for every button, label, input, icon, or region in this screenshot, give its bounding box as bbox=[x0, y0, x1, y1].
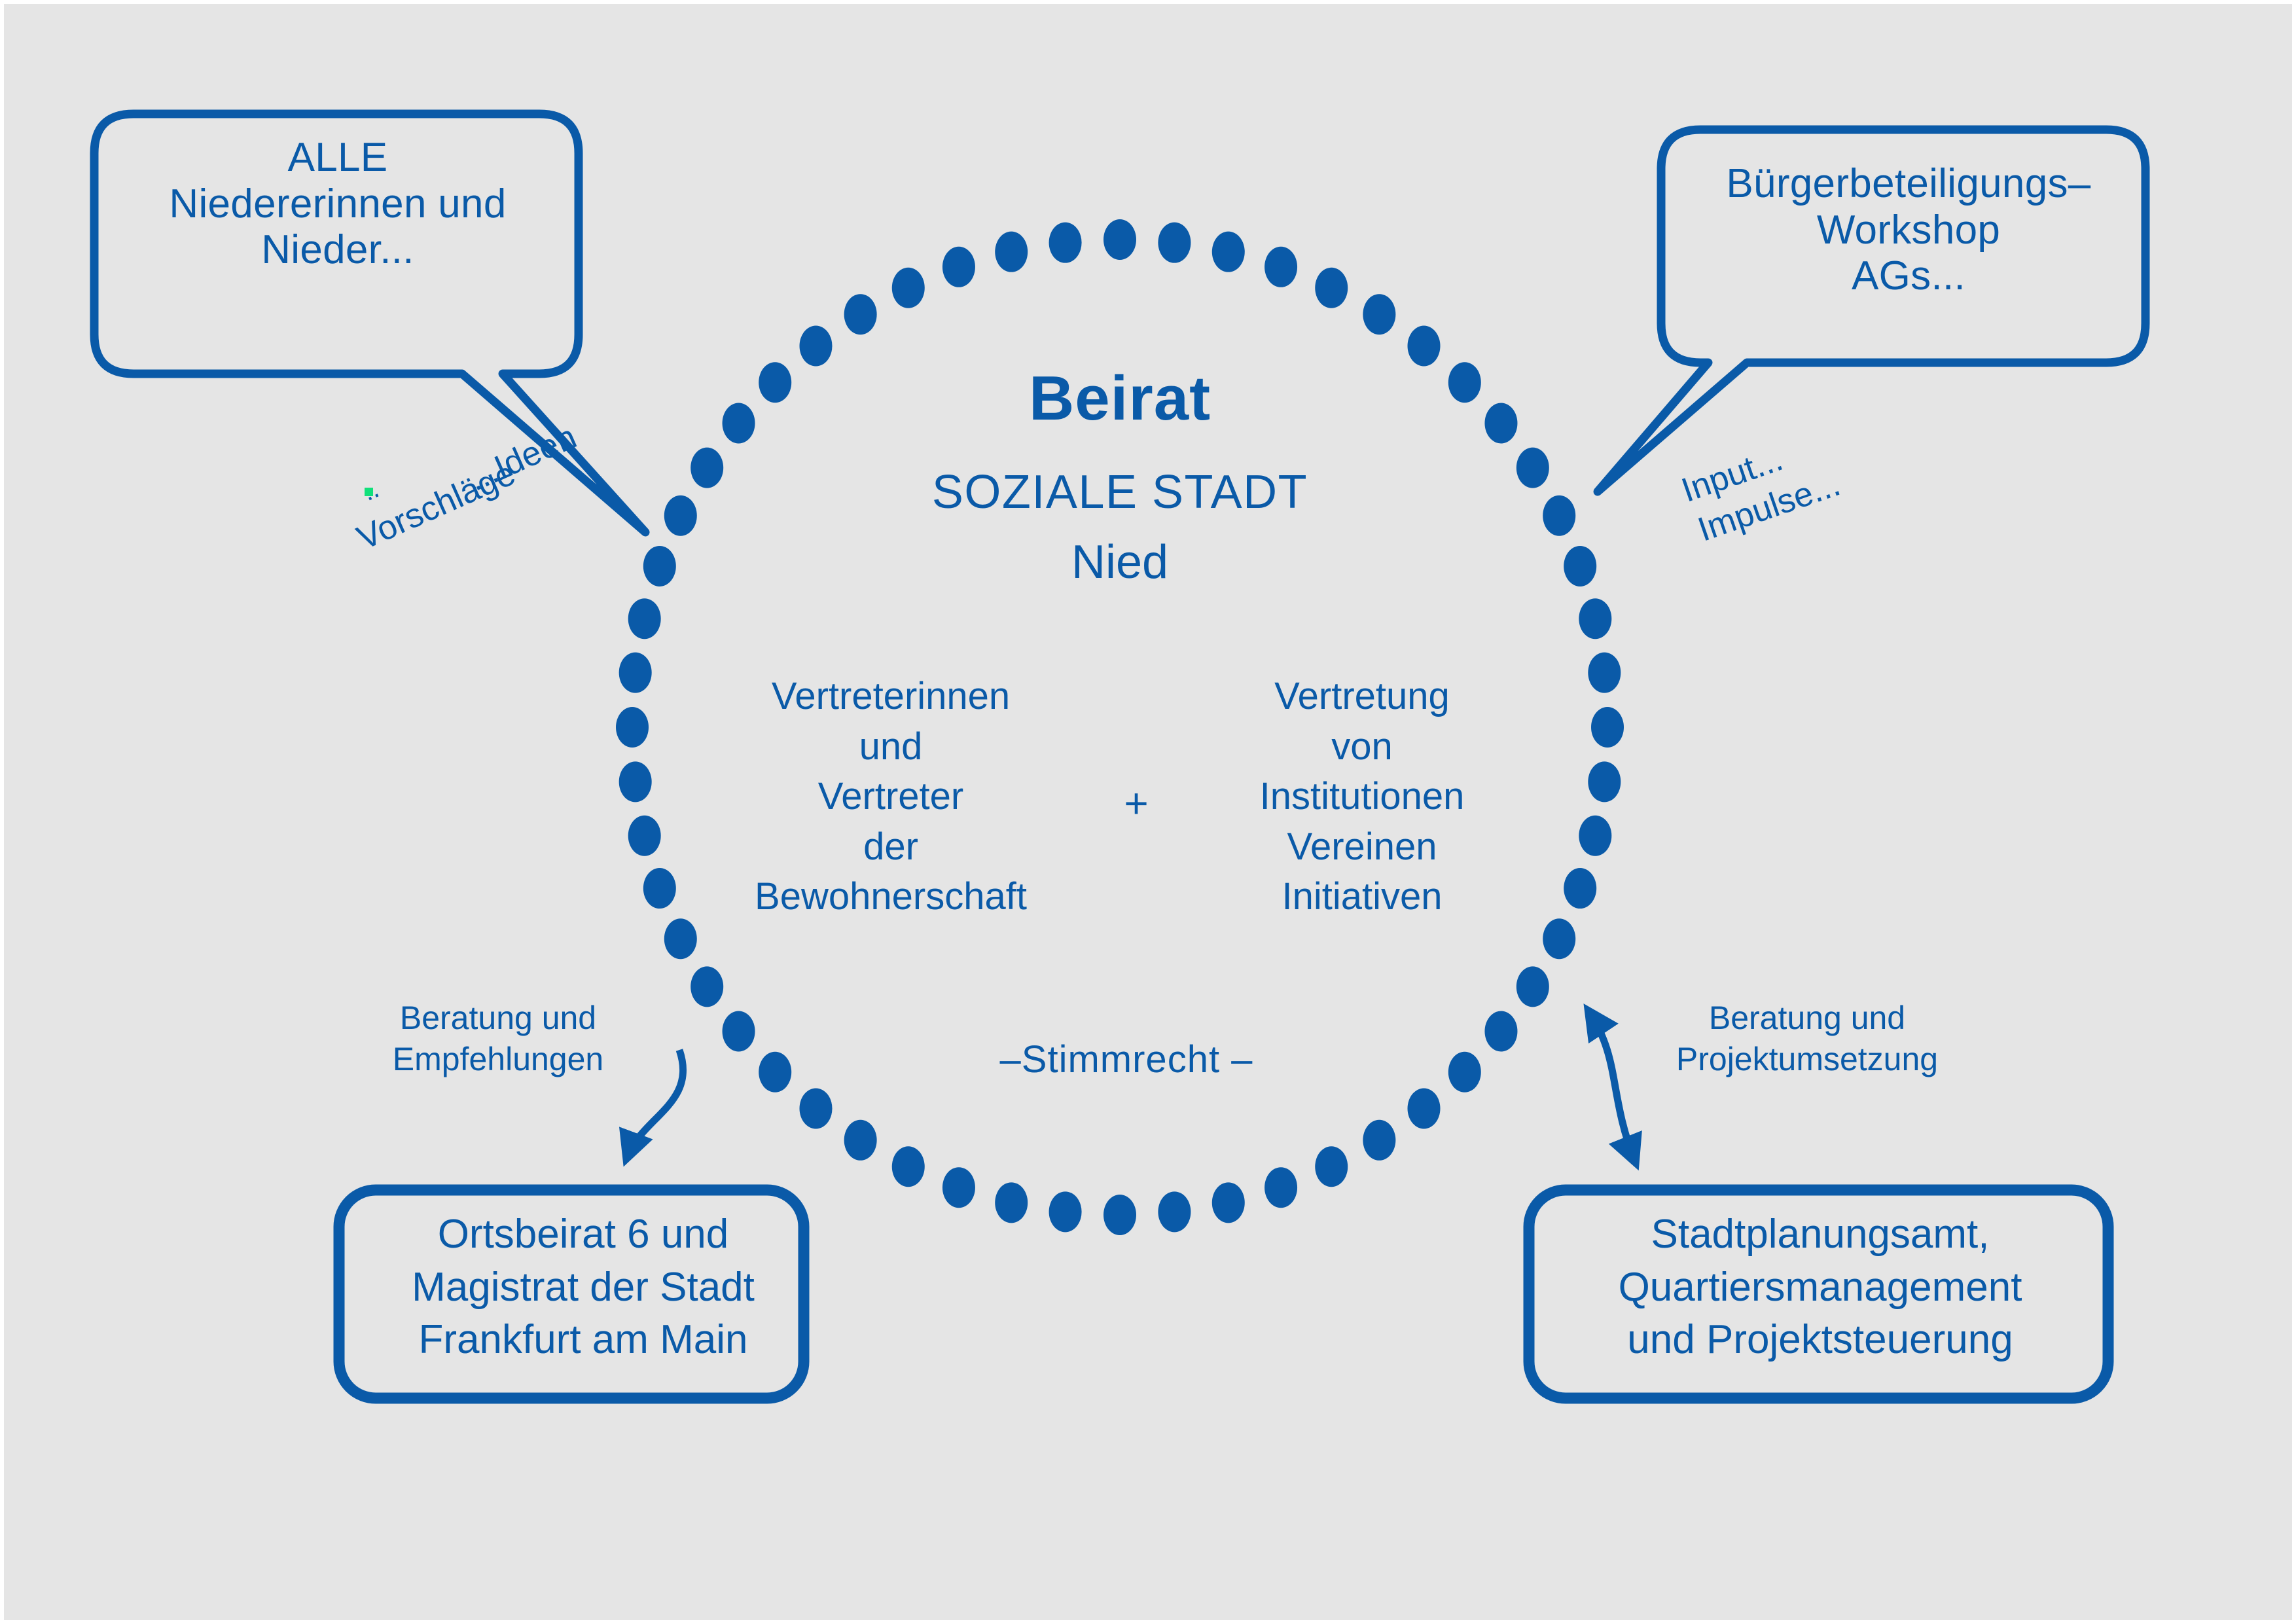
ring-dot bbox=[619, 761, 652, 802]
ring-dot bbox=[1448, 362, 1481, 403]
ring-dot bbox=[1265, 247, 1297, 287]
ring-dot bbox=[759, 362, 791, 403]
ring-dot bbox=[1158, 1191, 1191, 1232]
ring-dot bbox=[1315, 268, 1348, 308]
center-left-column: Vertreterinnen und Vertreter der Bewohne… bbox=[688, 672, 1094, 922]
ring-dot bbox=[892, 268, 925, 308]
ring-dot bbox=[1212, 1182, 1245, 1223]
ring-dot bbox=[691, 448, 723, 488]
ring-dot bbox=[1484, 1011, 1517, 1052]
ring-dot bbox=[1408, 326, 1441, 367]
ring-dot bbox=[759, 1052, 791, 1092]
ring-dot bbox=[1315, 1146, 1348, 1187]
ring-dot bbox=[844, 1120, 877, 1161]
ring-dot bbox=[1588, 761, 1621, 802]
ring-dot bbox=[1408, 1088, 1441, 1128]
center-subtitle-line1: SOZIALE STADT bbox=[793, 465, 1447, 519]
ring-dot bbox=[619, 653, 652, 693]
diagram-canvas: ALLE Niedererinnen und Nieder... Bürgerb… bbox=[0, 0, 2296, 1624]
ring-dot bbox=[1579, 598, 1611, 639]
speech-bubble-left-label: ALLE Niedererinnen und Nieder... bbox=[102, 135, 573, 274]
ring-dot bbox=[1363, 1120, 1395, 1161]
ring-dot bbox=[892, 1146, 925, 1187]
ring-dot bbox=[942, 247, 975, 287]
ring-dot bbox=[664, 496, 697, 536]
ring-dot bbox=[1588, 653, 1621, 693]
ring-dot bbox=[995, 232, 1028, 272]
ring-dot bbox=[1448, 1052, 1481, 1092]
ring-dot bbox=[844, 294, 877, 334]
box-bottom-left-label: Ortsbeirat 6 und Magistrat der Stadt Fra… bbox=[351, 1208, 816, 1367]
ring-dot bbox=[628, 816, 661, 856]
ring-dot bbox=[643, 546, 676, 586]
ring-dot bbox=[664, 918, 697, 959]
ring-dot bbox=[995, 1182, 1028, 1223]
ring-dot bbox=[1265, 1167, 1297, 1208]
arrow-label-bottom-left: Beratung und Empfehlungen bbox=[344, 998, 652, 1080]
ring-dot bbox=[1212, 232, 1245, 272]
ring-dot bbox=[1516, 448, 1549, 488]
arrow-label-bottom-right: Beratung und Projektumsetzung bbox=[1637, 998, 1977, 1080]
ring-dot bbox=[1363, 294, 1395, 334]
center-title: Beirat bbox=[793, 363, 1447, 434]
ring-dot bbox=[616, 707, 649, 748]
ring-dot bbox=[1103, 219, 1136, 260]
ring-dot bbox=[1049, 1191, 1082, 1232]
green-speck-artifact bbox=[365, 488, 373, 496]
box-bottom-right-label: Stadtplanungsamt, Quartiersmanagement un… bbox=[1535, 1208, 2105, 1367]
ring-dot bbox=[643, 868, 676, 909]
ring-dot bbox=[1591, 707, 1624, 748]
center-footer-stimmrecht: –Stimmrecht – bbox=[924, 1038, 1329, 1081]
ring-dot bbox=[1516, 966, 1549, 1007]
ring-dot bbox=[800, 326, 833, 367]
ring-dot bbox=[1158, 223, 1191, 263]
ring-dot bbox=[942, 1167, 975, 1208]
ring-dot bbox=[1543, 918, 1575, 959]
ring-dot bbox=[1579, 816, 1611, 856]
arrow-bottom-right bbox=[1589, 1012, 1635, 1161]
ring-dot bbox=[1484, 403, 1517, 444]
ring-dot bbox=[1049, 223, 1082, 263]
speech-bubble-right-label: Bürgerbeteiligungs– Workshop AGs... bbox=[1670, 161, 2147, 300]
ring-dot bbox=[628, 598, 661, 639]
ring-dot bbox=[723, 403, 755, 444]
ring-dot bbox=[691, 966, 723, 1007]
ring-dot bbox=[800, 1088, 833, 1128]
ring-dot bbox=[723, 1011, 755, 1052]
ring-dot bbox=[1543, 496, 1575, 536]
ring-dot bbox=[1564, 546, 1596, 586]
ring-dot bbox=[1564, 868, 1596, 909]
center-subtitle-line2: Nied bbox=[793, 535, 1447, 589]
center-plus-symbol: + bbox=[1087, 780, 1185, 827]
center-right-column: Vertretung von Institutionen Vereinen In… bbox=[1202, 672, 1522, 922]
ring-dot bbox=[1103, 1195, 1136, 1235]
